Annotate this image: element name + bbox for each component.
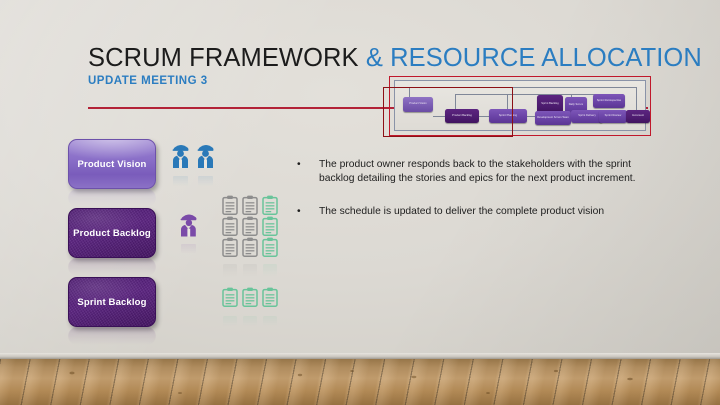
clipboard-row-reflection	[222, 309, 282, 327]
process-box-sprint-backlog[interactable]: Sprint Backlog	[68, 277, 156, 327]
process-box-label: Sprint Backlog	[77, 297, 146, 308]
presentation-slide: SCRUM FRAMEWORK & RESOURCE ALLOCATION UP…	[0, 0, 720, 405]
floor-knots	[0, 359, 720, 405]
title-accent: & RESOURCE ALLOCATION	[366, 44, 702, 72]
diagram-highlight-box	[383, 87, 513, 137]
process-box-product-vision[interactable]: Product Vision	[68, 139, 156, 189]
clipboard-grid-reflection	[222, 257, 282, 278]
process-box-reflection	[68, 258, 156, 276]
process-box-reflection	[68, 327, 156, 345]
slide-subtitle: UPDATE MEETING 3	[88, 75, 208, 87]
bullet-list: • The product owner responds back to the…	[292, 158, 652, 234]
worker-icon	[178, 211, 202, 237]
bullet-marker: •	[297, 158, 301, 172]
process-box-reflection	[68, 189, 156, 207]
slide-title: SCRUM FRAMEWORK & RESOURCE ALLOCATION	[88, 44, 702, 73]
process-box-label: Product Vision	[78, 159, 147, 170]
bullet-marker: •	[297, 205, 301, 219]
bullet-text: The product owner responds back to the s…	[319, 159, 636, 184]
bullet-item: • The schedule is updated to deliver the…	[292, 205, 652, 219]
clipboard-grid-product-backlog	[222, 195, 282, 262]
bullet-text: The schedule is updated to deliver the c…	[319, 206, 604, 217]
worker-icon-reflection-purple	[178, 237, 202, 255]
title-primary: SCRUM FRAMEWORK	[88, 44, 366, 72]
bullet-item: • The product owner responds back to the…	[292, 158, 652, 187]
process-box-product-backlog[interactable]: Product Backlog	[68, 208, 156, 258]
worker-icon	[170, 141, 218, 169]
process-box-label: Product Backlog	[73, 228, 151, 239]
worker-icons-reflection-blue	[170, 169, 218, 187]
